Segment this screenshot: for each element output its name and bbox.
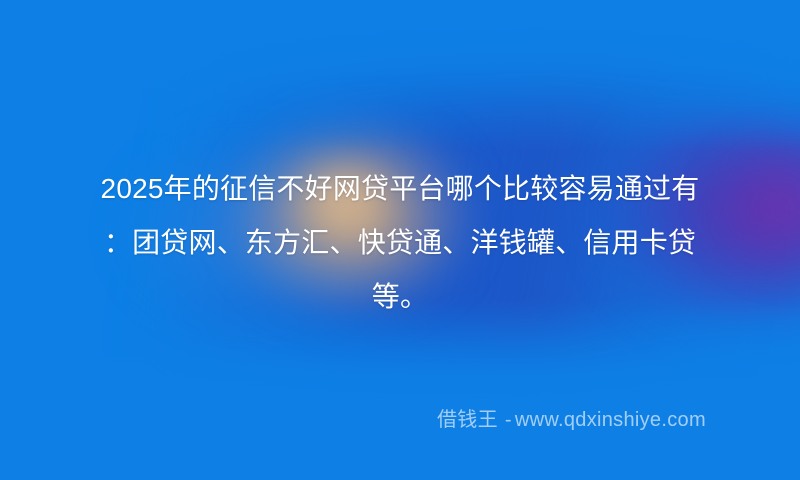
watermark-brand: 借钱王 (437, 409, 498, 431)
background-top-fade (0, 0, 800, 150)
watermark: 借钱王-www.qdxinshiye.com (437, 407, 706, 433)
background-bottom-fade (0, 300, 800, 480)
headline-line-1: 2025年的征信不好网贷平台哪个比较容易通过有 (50, 162, 750, 216)
watermark-separator: - (505, 409, 512, 431)
headline-line-2: ：团贷网、东方汇、快贷通、洋钱罐、信用卡贷 (50, 216, 750, 270)
headline-text: 2025年的征信不好网贷平台哪个比较容易通过有 ：团贷网、东方汇、快贷通、洋钱罐… (50, 162, 750, 324)
promo-banner: 2025年的征信不好网贷平台哪个比较容易通过有 ：团贷网、东方汇、快贷通、洋钱罐… (0, 0, 800, 480)
watermark-url: www.qdxinshiye.com (515, 409, 706, 431)
headline-line-3: 等。 (50, 270, 750, 324)
